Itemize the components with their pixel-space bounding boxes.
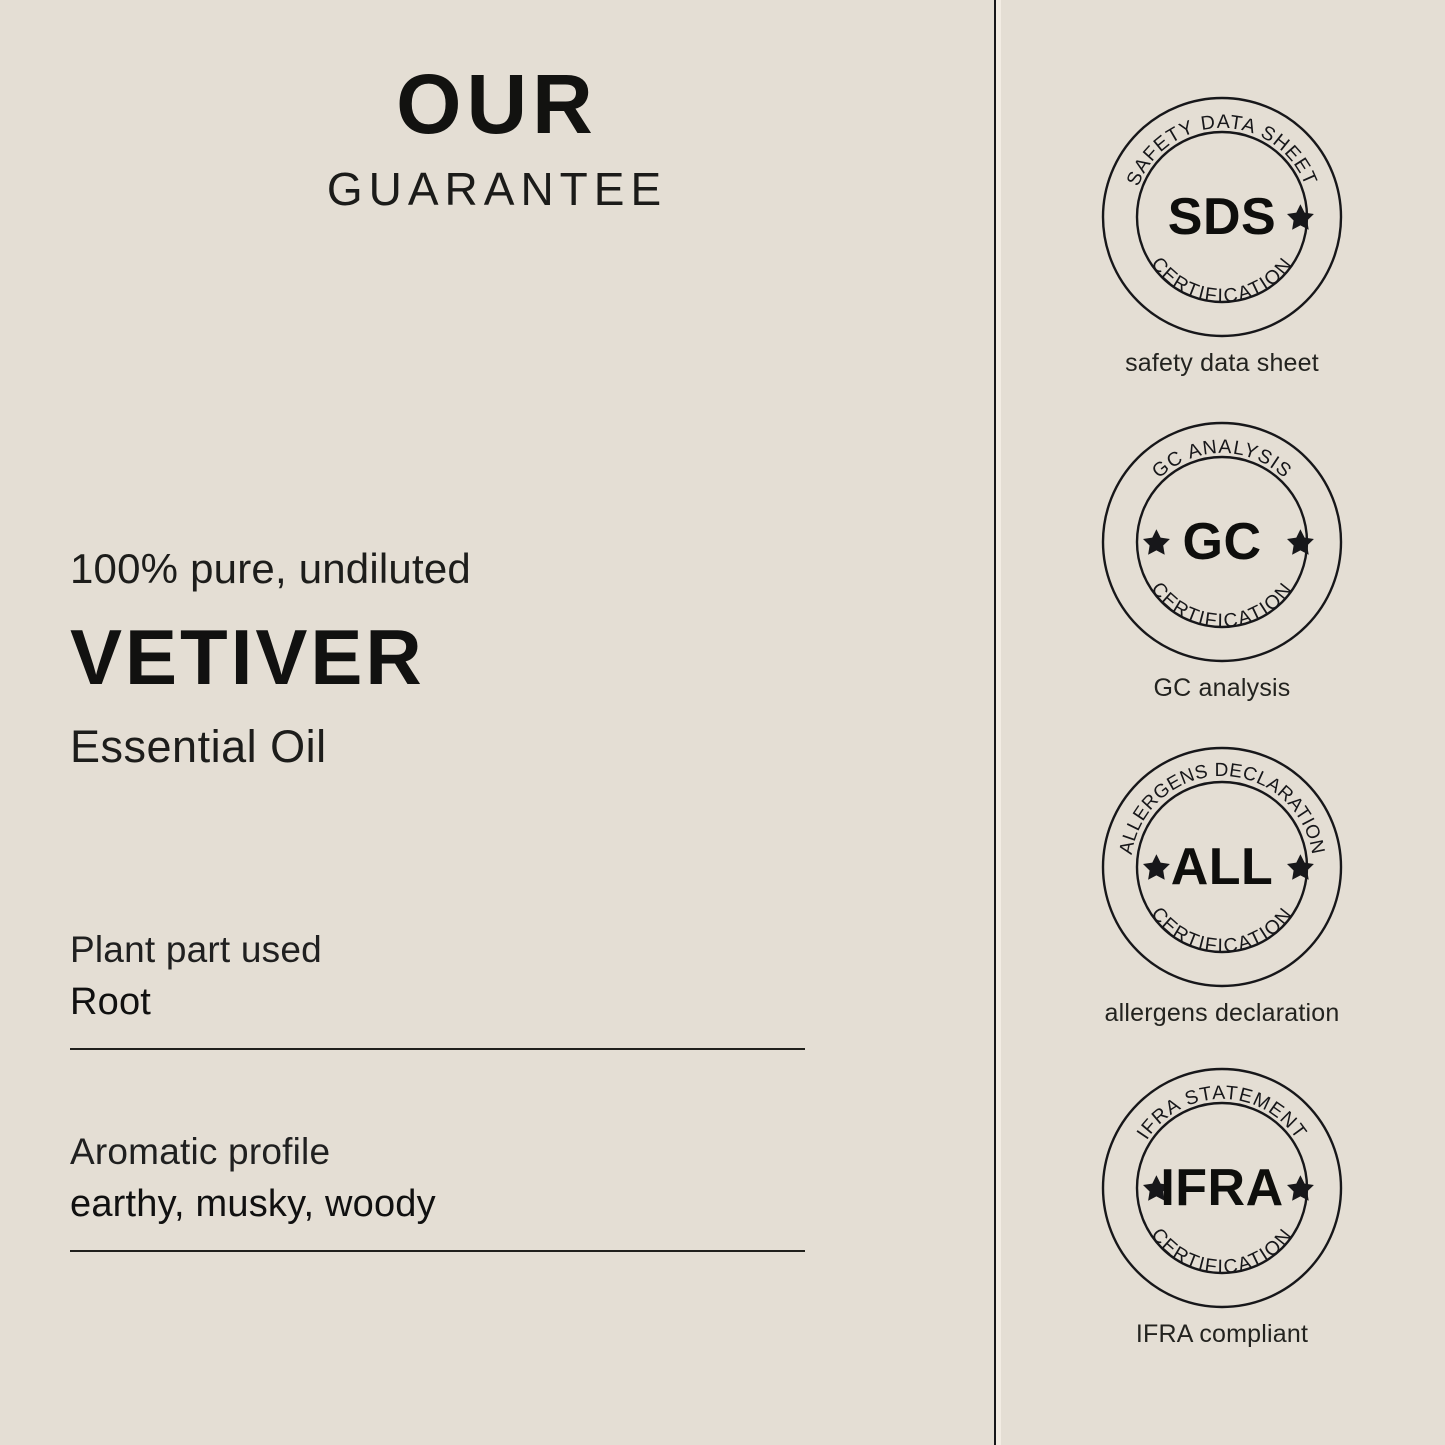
guarantee-infographic: OUR GUARANTEE 100% pure, undiluted VETIV… — [0, 0, 1445, 1445]
badge-arc-top: IFRA STATEMENT — [1133, 1082, 1312, 1144]
page-title-line1: OUR — [0, 62, 994, 146]
spec-value: earthy, musky, woody — [70, 1182, 805, 1228]
badge-seal-icon: IFRA STATEMENT CERTIFICATION IFRA — [1097, 1063, 1347, 1313]
spec-divider — [70, 1250, 805, 1252]
badge-arc-top: GC ANALYSIS — [1148, 436, 1296, 483]
badge-gc: GC ANALYSIS CERTIFICATION GC GC analysis — [999, 417, 1445, 703]
badge-arc-top: SAFETY DATA SHEET — [1122, 111, 1321, 189]
spec-divider — [70, 1048, 805, 1050]
spec-label: Aromatic profile — [70, 1130, 805, 1174]
svg-text:CERTIFICATION: CERTIFICATION — [1147, 1224, 1298, 1278]
svg-text:SAFETY DATA SHEET: SAFETY DATA SHEET — [1122, 111, 1321, 189]
star-icon-right — [1287, 529, 1314, 555]
certification-badges-panel: SAFETY DATA SHEET CERTIFICATION SDS safe… — [999, 0, 1445, 1445]
badge-arc-bottom: CERTIFICATION — [1147, 903, 1298, 957]
badge-abbr: IFRA — [1160, 1159, 1283, 1217]
badge-all: ALLERGENS DECLARATION CERTIFICATION ALL … — [999, 742, 1445, 1028]
page-title: OUR GUARANTEE — [0, 62, 994, 212]
product-tagline: 100% pure, undiluted — [70, 546, 930, 592]
spec-label: Plant part used — [70, 928, 805, 972]
product-name: VETIVER — [70, 618, 930, 696]
spec-list: Plant part used Root Aromatic profile ea… — [70, 928, 805, 1264]
badge-abbr: SDS — [1168, 188, 1276, 246]
badge-abbr: ALL — [1171, 838, 1274, 896]
product-type: Essential Oil — [70, 722, 930, 772]
spec-value: Root — [70, 980, 805, 1026]
spec-row-plant-part: Plant part used Root — [70, 928, 805, 1062]
star-icon-right — [1287, 204, 1314, 230]
left-panel: OUR GUARANTEE 100% pure, undiluted VETIV… — [0, 0, 994, 1445]
page-title-line2: GUARANTEE — [0, 166, 994, 212]
svg-text:IFRA STATEMENT: IFRA STATEMENT — [1133, 1082, 1312, 1144]
badge-arc-bottom: CERTIFICATION — [1147, 1224, 1298, 1278]
svg-text:CERTIFICATION: CERTIFICATION — [1147, 253, 1298, 307]
star-icon-right — [1287, 854, 1314, 880]
badge-ifra: IFRA STATEMENT CERTIFICATION IFRA IFRA c… — [999, 1063, 1445, 1349]
badge-seal-icon: ALLERGENS DECLARATION CERTIFICATION ALL — [1097, 742, 1347, 992]
badge-caption: safety data sheet — [999, 348, 1445, 378]
star-icon-right — [1287, 1175, 1314, 1201]
badge-seal-icon: SAFETY DATA SHEET CERTIFICATION SDS — [1097, 92, 1347, 342]
badge-caption: IFRA compliant — [999, 1319, 1445, 1349]
badge-arc-bottom: CERTIFICATION — [1147, 578, 1298, 632]
badge-seal-icon: GC ANALYSIS CERTIFICATION GC — [1097, 417, 1347, 667]
spec-row-aromatic-profile: Aromatic profile earthy, musky, woody — [70, 1130, 805, 1264]
svg-text:CERTIFICATION: CERTIFICATION — [1147, 578, 1298, 632]
badge-arc-bottom: CERTIFICATION — [1147, 253, 1298, 307]
star-icon-left — [1143, 529, 1170, 555]
badge-sds: SAFETY DATA SHEET CERTIFICATION SDS safe… — [999, 92, 1445, 378]
badge-abbr: GC — [1183, 513, 1262, 571]
product-block: 100% pure, undiluted VETIVER Essential O… — [70, 546, 930, 772]
star-icon-left — [1143, 854, 1170, 880]
svg-text:GC ANALYSIS: GC ANALYSIS — [1148, 436, 1296, 483]
badge-caption: allergens declaration — [999, 998, 1445, 1028]
badge-caption: GC analysis — [999, 673, 1445, 703]
svg-text:CERTIFICATION: CERTIFICATION — [1147, 903, 1298, 957]
